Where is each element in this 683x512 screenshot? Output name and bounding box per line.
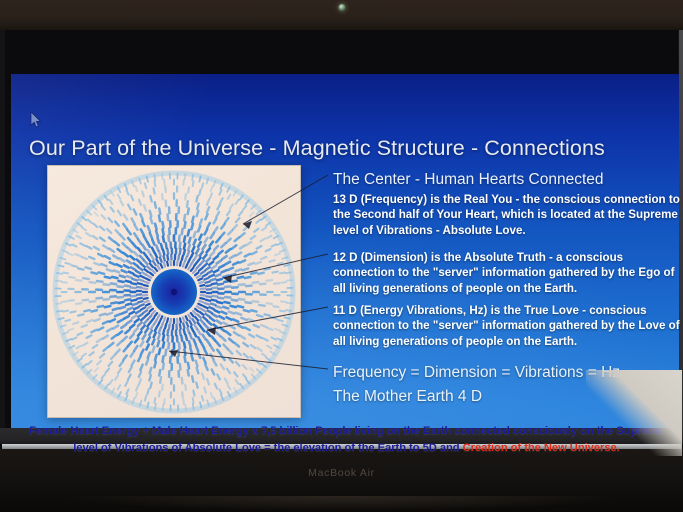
radial-mandala-graphic	[50, 168, 298, 416]
mouse-pointer-icon	[30, 112, 42, 128]
presentation-slide[interactable]: Our Part of the Universe - Magnetic Stru…	[11, 74, 682, 456]
brand-label: MacBook Air	[0, 467, 683, 479]
deck-glow	[60, 496, 623, 512]
mandala-image	[47, 165, 301, 418]
footer-line-2b-accent: Creation of	[463, 442, 522, 454]
top-bezel	[0, 0, 683, 30]
screen-frame: Our Part of the Universe - Magnetic Stru…	[0, 30, 683, 428]
slide-footer: Female Heart Energy + Male Heart Energy …	[19, 423, 674, 456]
paragraph-13d: 13 D (Frequency) is the Real You - the c…	[333, 192, 682, 238]
footer-line-1: Female Heart Energy + Male Heart Energy …	[29, 425, 577, 437]
heading-the-center: The Center - Human Hearts Connected	[333, 171, 682, 189]
webcam-indicator-icon	[338, 4, 345, 11]
paragraph-12d: 12 D (Dimension) is the Absolute Truth -…	[333, 250, 682, 296]
paragraph-11d: 11 D (Energy Vibrations, Hz) is the True…	[333, 303, 682, 349]
laptop-device: Our Part of the Universe - Magnetic Stru…	[0, 0, 683, 512]
slide-title: Our Part of the Universe - Magnetic Stru…	[29, 136, 605, 161]
screen-glare	[586, 370, 682, 456]
